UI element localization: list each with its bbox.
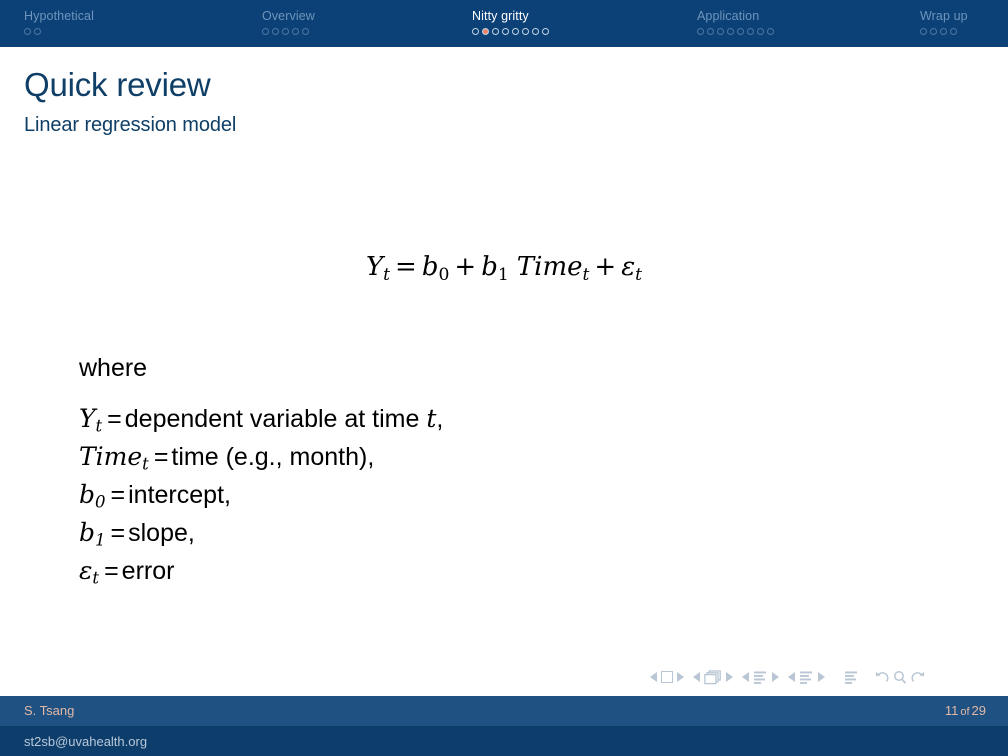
- nav-dot[interactable]: [292, 28, 299, 35]
- nav-dot[interactable]: [707, 28, 714, 35]
- definition-line: Timet=time (e.g., month),: [79, 438, 443, 476]
- definition-text: slope,: [128, 519, 195, 547]
- definition-line: b0=intercept,: [79, 476, 443, 514]
- frame-navigation-group[interactable]: [693, 670, 733, 685]
- eq-error-sub: t: [635, 265, 642, 285]
- definition-text: time (e.g., month),: [171, 443, 374, 471]
- page-of-label: of: [958, 706, 971, 718]
- navigation-header: HypotheticalOverviewNitty grittyApplicat…: [0, 0, 1008, 47]
- nav-dot[interactable]: [34, 28, 41, 35]
- eq-equals: =: [390, 252, 422, 282]
- eq-slope-sub: 1: [498, 265, 509, 285]
- square-icon[interactable]: [661, 671, 673, 683]
- nav-dot[interactable]: [24, 28, 31, 35]
- nav-section-label: Application: [697, 9, 759, 23]
- page-total: 29: [972, 703, 986, 718]
- previous-slide-icon[interactable]: [650, 672, 657, 682]
- definition-equals: =: [106, 481, 129, 509]
- definition-equals: =: [106, 519, 129, 547]
- page-title: Quick review: [24, 66, 984, 104]
- definition-symbol: b: [79, 518, 95, 547]
- definition-equals: =: [149, 443, 172, 471]
- definitions-block: where Yt=dependent variable at time t,Ti…: [79, 353, 443, 590]
- section-navigation-group[interactable]: [788, 670, 825, 685]
- nav-dot[interactable]: [532, 28, 539, 35]
- nav-dot[interactable]: [930, 28, 937, 35]
- nav-dot[interactable]: [542, 28, 549, 35]
- definition-symbol: b: [79, 480, 95, 509]
- nav-dot[interactable]: [472, 28, 479, 35]
- eq-intercept-var: b: [422, 252, 439, 282]
- eq-slope-var: b: [481, 252, 498, 282]
- next-section-icon[interactable]: [818, 672, 825, 682]
- nav-section-wrap-up[interactable]: Wrap up: [920, 0, 968, 47]
- nav-section-dots: [697, 28, 774, 35]
- subsection-navigation-group[interactable]: [742, 670, 779, 685]
- nav-section-dots: [262, 28, 309, 35]
- nav-dot[interactable]: [512, 28, 519, 35]
- nav-section-application[interactable]: Application: [697, 0, 774, 47]
- next-slide-icon[interactable]: [677, 672, 684, 682]
- nav-dot[interactable]: [727, 28, 734, 35]
- definition-trailing-symbol: t: [426, 404, 436, 433]
- nav-section-label: Hypothetical: [24, 9, 94, 23]
- definition-line: εt=error: [79, 552, 443, 590]
- nav-section-nitty-gritty[interactable]: Nitty gritty: [472, 0, 549, 47]
- nav-dot[interactable]: [757, 28, 764, 35]
- definition-subscript: 0: [95, 493, 106, 512]
- nav-dot[interactable]: [747, 28, 754, 35]
- definition-line: Yt=dependent variable at time t,: [79, 400, 443, 438]
- title-block: Quick review Linear regression model: [24, 66, 984, 137]
- eq-plus-1: +: [449, 252, 481, 282]
- eq-plus-2: +: [589, 252, 621, 282]
- stacked-frames-icon[interactable]: [704, 670, 722, 685]
- nav-dot[interactable]: [767, 28, 774, 35]
- definition-symbol: Y: [79, 404, 96, 433]
- eq-error-var: ε: [621, 252, 635, 282]
- nav-dot-current[interactable]: [482, 28, 489, 35]
- next-frame-icon[interactable]: [726, 672, 733, 682]
- previous-section-icon[interactable]: [788, 672, 795, 682]
- eq-lhs-var: Y: [366, 252, 383, 282]
- nav-section-overview[interactable]: Overview: [262, 0, 315, 47]
- eq-intercept-sub: 0: [438, 265, 449, 285]
- definition-equals: =: [102, 405, 125, 433]
- nav-dot[interactable]: [717, 28, 724, 35]
- definition-trailing-text: ,: [436, 405, 443, 433]
- section-lines-icon[interactable]: [799, 670, 814, 685]
- definition-symbol: Time: [79, 442, 142, 471]
- nav-dot[interactable]: [302, 28, 309, 35]
- previous-subsection-icon[interactable]: [742, 672, 749, 682]
- nav-dot[interactable]: [502, 28, 509, 35]
- nav-dot[interactable]: [950, 28, 957, 35]
- eq-predictor: Time: [517, 252, 583, 282]
- previous-frame-icon[interactable]: [693, 672, 700, 682]
- definition-symbol: ε: [79, 556, 92, 585]
- nav-dot[interactable]: [737, 28, 744, 35]
- definition-subscript: t: [142, 455, 149, 474]
- nav-section-label: Wrap up: [920, 9, 968, 23]
- nav-dot[interactable]: [272, 28, 279, 35]
- slide-navigation-group[interactable]: [650, 671, 684, 683]
- regression-equation: Yt=b0+b1Timet+εt: [366, 252, 642, 282]
- nav-section-dots: [472, 28, 549, 35]
- equation-display: Yt=b0+b1Timet+εt: [0, 250, 1008, 284]
- footer-bar-top: [0, 696, 1008, 726]
- definition-text: dependent variable at time: [125, 405, 427, 433]
- footer-page-number: 11of29: [945, 702, 986, 721]
- definition-text: intercept,: [128, 481, 231, 509]
- nav-dot[interactable]: [282, 28, 289, 35]
- page-current: 11: [945, 703, 959, 718]
- back-arrow-icon[interactable]: [873, 670, 890, 685]
- definition-subscript: 1: [95, 531, 106, 550]
- eq-lhs-sub: t: [383, 265, 390, 285]
- nav-section-label: Overview: [262, 9, 315, 23]
- nav-dot[interactable]: [697, 28, 704, 35]
- nav-section-label: Nitty gritty: [472, 9, 529, 23]
- beamer-navigation-symbols[interactable]: [650, 665, 995, 689]
- next-subsection-icon[interactable]: [772, 672, 779, 682]
- footer-bar-bottom: [0, 726, 1008, 756]
- definition-equals: =: [99, 557, 122, 585]
- page-subtitle: Linear regression model: [24, 113, 984, 137]
- nav-dot[interactable]: [940, 28, 947, 35]
- subsection-lines-icon[interactable]: [753, 670, 768, 685]
- nav-dot[interactable]: [492, 28, 499, 35]
- forward-arrow-icon[interactable]: [910, 670, 927, 685]
- nav-section-dots: [24, 28, 41, 35]
- footer-author: S. Tsang: [24, 702, 74, 719]
- definition-list: Yt=dependent variable at time t,Timet=ti…: [79, 400, 443, 590]
- where-label: where: [79, 353, 443, 383]
- definition-line: b1=slope,: [79, 514, 443, 552]
- nav-dot[interactable]: [262, 28, 269, 35]
- footer-email: st2sb@uvahealth.org: [24, 733, 147, 750]
- nav-dot[interactable]: [920, 28, 927, 35]
- definition-text: error: [122, 557, 175, 585]
- nav-section-hypothetical[interactable]: Hypothetical: [24, 0, 94, 47]
- search-icon[interactable]: [892, 670, 908, 685]
- nav-section-dots: [920, 28, 957, 35]
- nav-dot[interactable]: [522, 28, 529, 35]
- document-lines-icon[interactable]: [844, 670, 859, 685]
